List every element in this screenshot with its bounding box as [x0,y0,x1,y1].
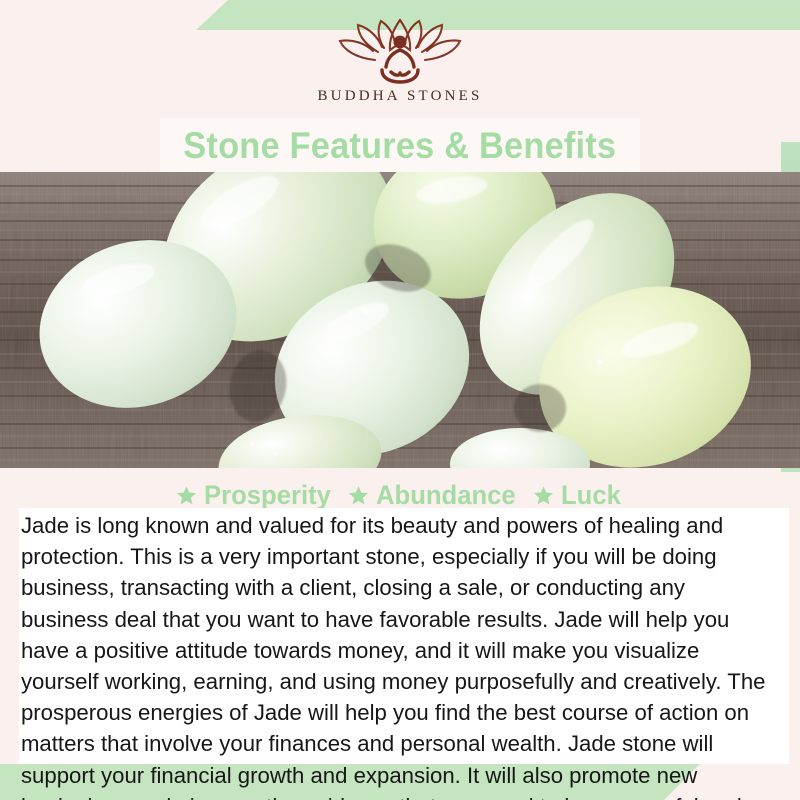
keyword-label: Prosperity [204,482,331,509]
keyword-label: Luck [561,482,621,509]
stone-keywords: Prosperity Abundance Luck [0,478,800,512]
page-title: Stone Features & Benefits [184,127,617,164]
brand-header: BUDDHA STONES [0,18,800,114]
stone-photo: Jade [0,172,800,468]
star-icon [348,485,369,506]
keyword-abundance: Abundance [348,482,523,509]
title-banner: Stone Features & Benefits [160,118,640,172]
keyword-label: Abundance [376,482,516,509]
stone-description: Jade is long known and valued for its be… [19,508,777,800]
star-icon [176,485,197,506]
description-panel: Jade is long known and valued for its be… [19,508,789,764]
keyword-prosperity: Prosperity [176,482,338,509]
lotus-meditation-figure-icon [334,18,466,84]
brand-name: BUDDHA STONES [317,88,482,105]
keyword-luck: Luck [533,482,624,509]
star-icon [533,485,554,506]
stone-info-card: BUDDHA STONES Stone Features & Benefits [0,0,800,800]
